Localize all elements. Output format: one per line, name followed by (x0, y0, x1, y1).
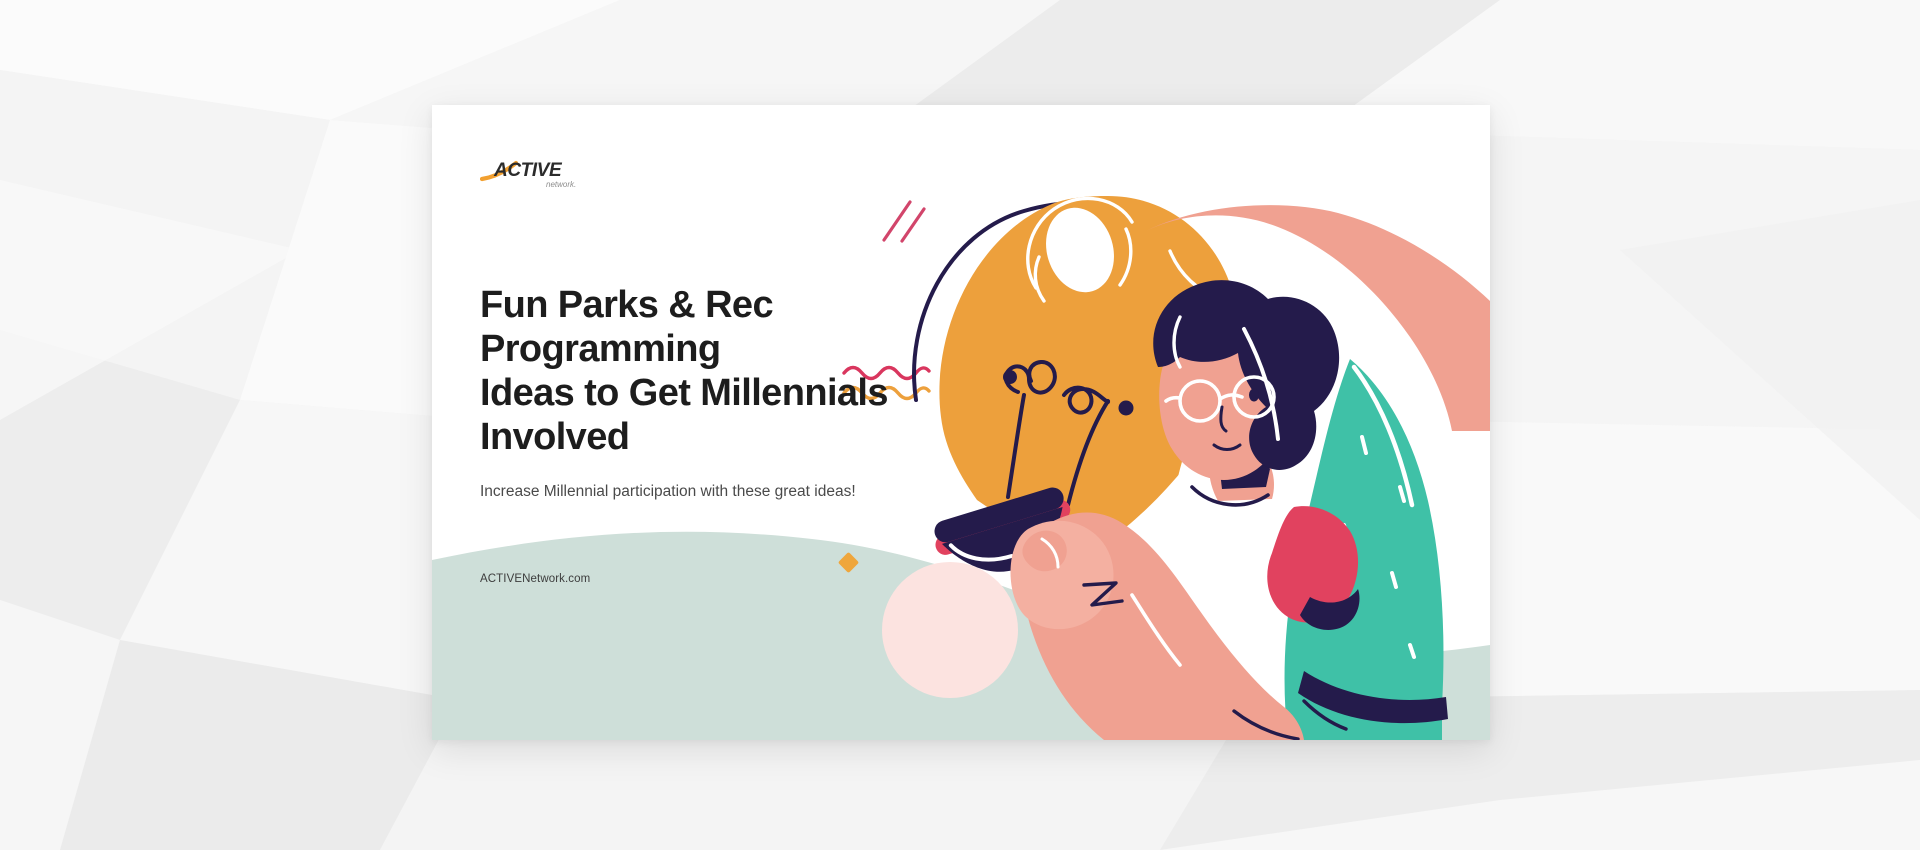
footer-url[interactable]: ACTIVENetwork.com (480, 573, 590, 585)
person-hand (1011, 521, 1114, 629)
presentation-slide-card[interactable]: ACTIVE network. Fun Parks & Rec Programm… (432, 105, 1490, 740)
logo-subword: network. (546, 180, 576, 189)
slide-text-block: Fun Parks & Rec Programming Ideas to Get… (480, 283, 1000, 503)
page-title: Fun Parks & Rec Programming Ideas to Get… (480, 283, 1000, 459)
filament-dot-left (1003, 370, 1017, 384)
logo-wordmark: ACTIVE (493, 160, 563, 181)
filament-dot-right (1119, 401, 1134, 416)
pale-pink-glow-circle (882, 562, 1018, 698)
active-network-logo[interactable]: ACTIVE network. (480, 155, 600, 191)
slide-subtitle: Increase Millennial participation with t… (480, 481, 1000, 503)
person-eye (1249, 389, 1259, 402)
screenshot-stage: ACTIVE network. Fun Parks & Rec Programm… (0, 0, 1920, 850)
